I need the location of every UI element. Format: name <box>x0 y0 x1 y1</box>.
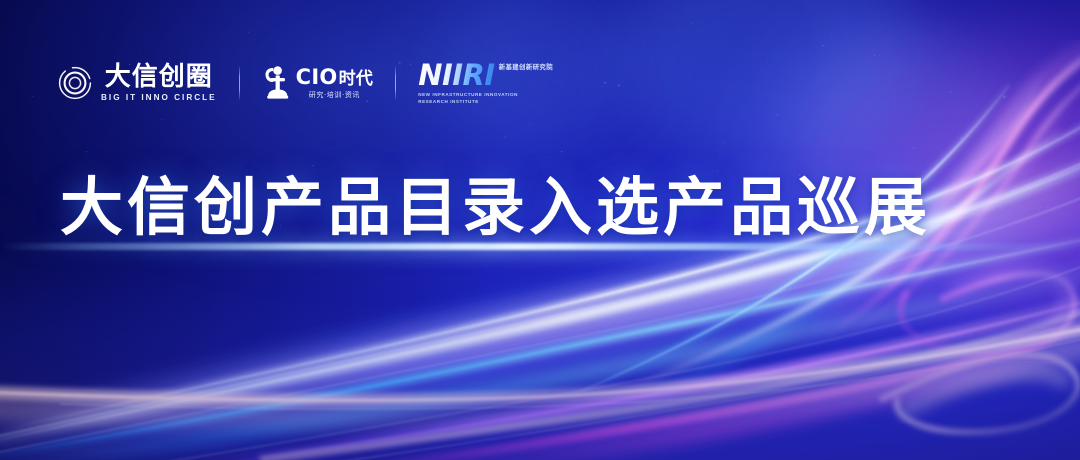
logo1-chinese-name: 大信创圈 <box>105 64 213 90</box>
logo3-chinese-name: 新基建创新研究院 <box>499 62 553 71</box>
horizontal-light-streak <box>0 243 1080 250</box>
event-banner: 大信创圈 BIG IT INNO CIRCLE CIO 时代 研究·培训·资讯 <box>0 0 1080 460</box>
logo3-english-line1: NEW INFRASTRUCTURE INNOVATION <box>418 92 518 97</box>
logo2-subtitle: 研究·培训·资讯 <box>309 92 360 99</box>
logo3-wordmark: NIIRI <box>418 62 494 90</box>
logo-niiri[interactable]: NIIRI 新基建创新研究院 NEW INFRASTRUCTURE INNOVA… <box>418 62 553 104</box>
concentric-circle-icon <box>58 66 92 100</box>
banner-title: 大信创产品目录入选产品巡展 <box>60 176 931 239</box>
logo1-english-name: BIG IT INNO CIRCLE <box>101 94 217 102</box>
logo-cio-era[interactable]: CIO 时代 研究·培训·资讯 <box>262 65 374 101</box>
logo-big-it-inno-circle[interactable]: 大信创圈 BIG IT INNO CIRCLE <box>58 64 217 102</box>
logo-divider-2 <box>395 65 396 101</box>
logo2-chinese-name: 时代 <box>339 71 374 88</box>
logo-divider-1 <box>239 65 240 101</box>
logo3-english-line2: RESEARCH INSTITUTE <box>418 99 479 104</box>
logo2-latin-name: CIO <box>296 67 338 88</box>
person-pillar-icon <box>262 65 292 101</box>
logo-bar: 大信创圈 BIG IT INNO CIRCLE CIO 时代 研究·培训·资讯 <box>58 62 553 104</box>
